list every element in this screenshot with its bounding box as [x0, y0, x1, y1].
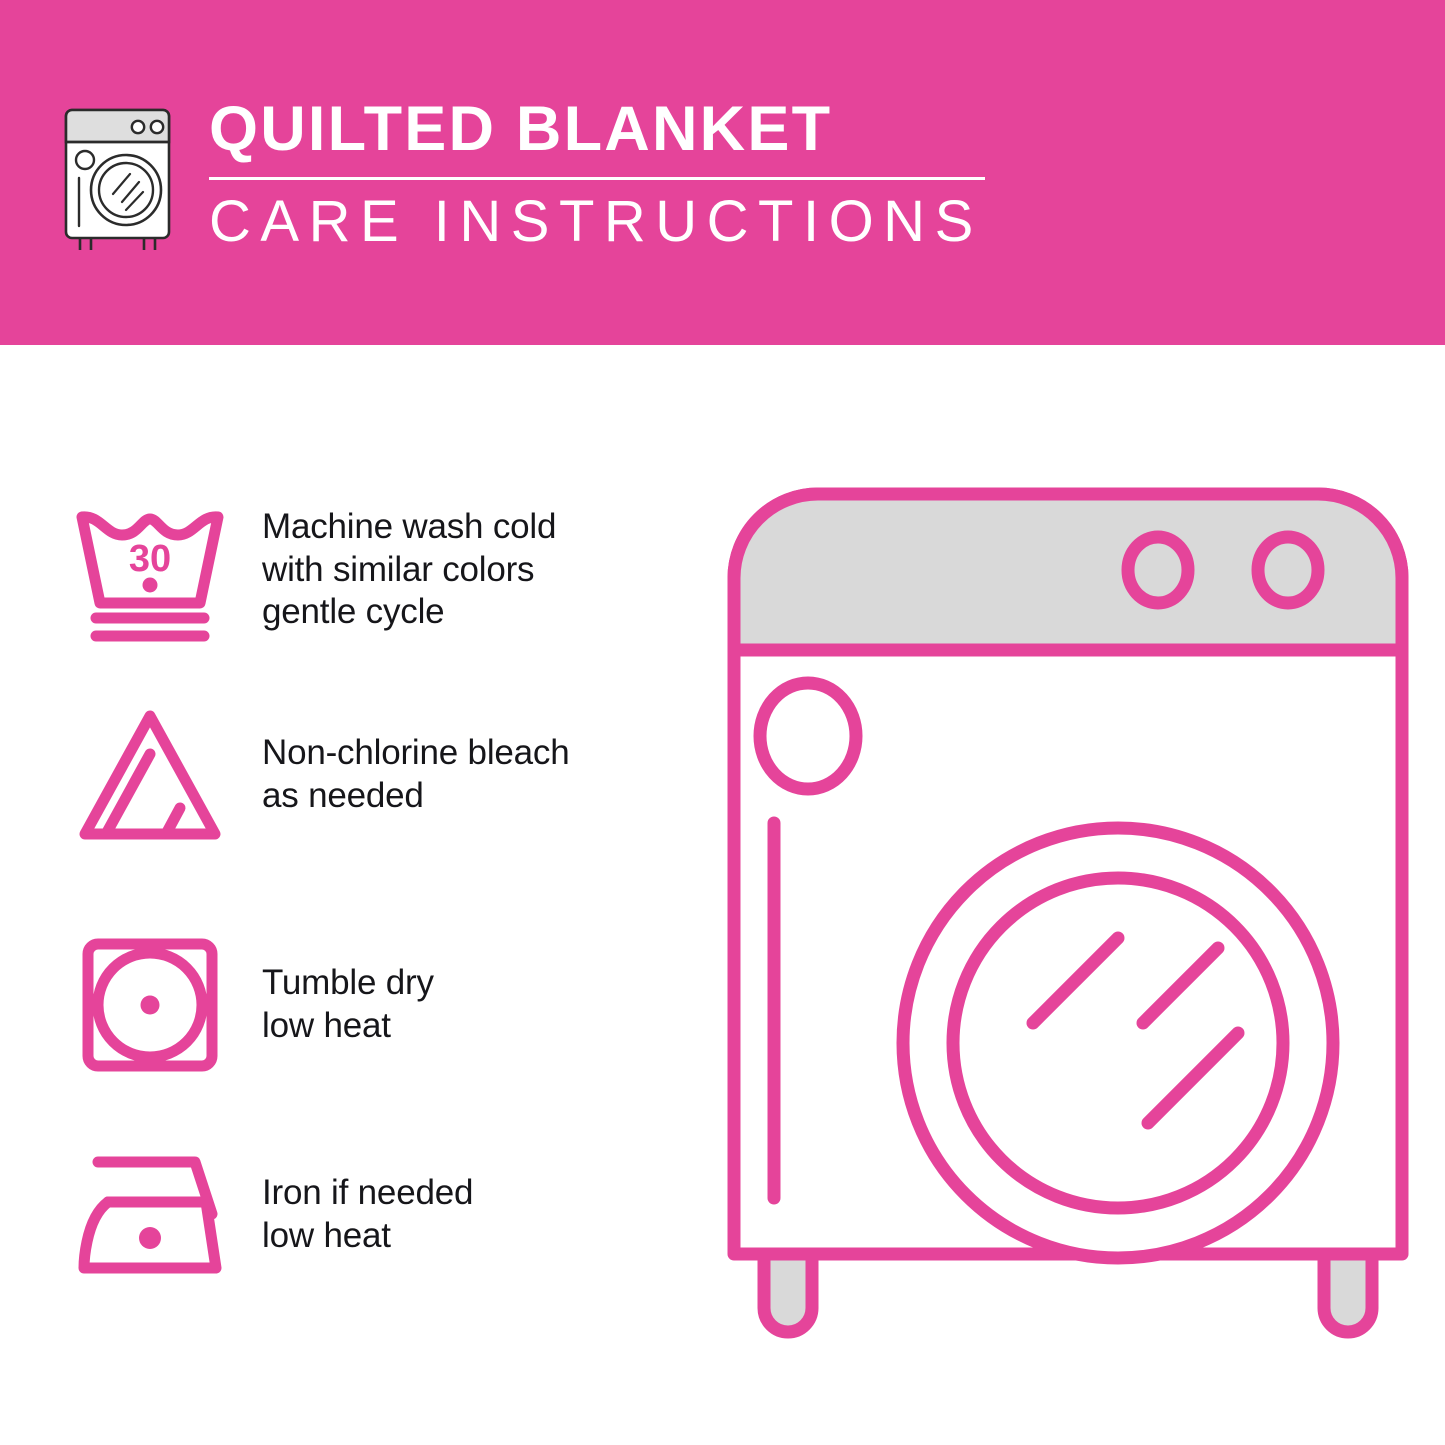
- iron-icon: [70, 1140, 230, 1290]
- care-item-label: Iron if needed low heat: [262, 1172, 473, 1257]
- care-item-bleach: Non-chlorine bleach as needed: [70, 700, 690, 850]
- care-label-line: Machine wash cold: [262, 506, 556, 549]
- care-item-tumble-dry: Tumble dry low heat: [70, 930, 690, 1080]
- care-label-line: low heat: [262, 1215, 473, 1258]
- care-label-line: as needed: [262, 775, 570, 818]
- care-label-line: Tumble dry: [262, 962, 434, 1005]
- care-label-line: gentle cycle: [262, 591, 556, 634]
- front-load-washing-machine-illustration: [718, 478, 1418, 1368]
- care-item-label: Machine wash cold with similar colors ge…: [262, 506, 556, 634]
- header-content: QUILTED BLANKET CARE INSTRUCTIONS: [60, 98, 985, 257]
- care-label-line: Non-chlorine bleach: [262, 732, 570, 775]
- care-item-iron: Iron if needed low heat: [70, 1140, 690, 1290]
- control-knob-1: [1128, 537, 1188, 603]
- washer-legs: [764, 1248, 1372, 1332]
- header-titles: QUILTED BLANKET CARE INSTRUCTIONS: [207, 98, 985, 251]
- care-label-line: with similar colors: [262, 549, 556, 592]
- page-subtitle: CARE INSTRUCTIONS: [207, 193, 985, 251]
- tumble-dry-icon: [70, 930, 230, 1080]
- care-item-label: Non-chlorine bleach as needed: [262, 732, 570, 817]
- header-banner: QUILTED BLANKET CARE INSTRUCTIONS: [0, 0, 1445, 345]
- wash-temperature-value: 30: [129, 538, 171, 580]
- bleach-triangle-icon: [70, 700, 230, 850]
- washing-machine-icon: [60, 102, 185, 257]
- title-divider: [209, 177, 985, 180]
- care-item-machine-wash: 30 Machine wash cold with similar colors…: [70, 495, 690, 645]
- care-item-label: Tumble dry low heat: [262, 962, 434, 1047]
- wash-tub-30-icon: 30: [70, 495, 230, 645]
- detergent-dispenser: [760, 683, 856, 789]
- page-title: QUILTED BLANKET: [207, 98, 985, 161]
- control-knob-2: [1258, 537, 1318, 603]
- care-label-line: Iron if needed: [262, 1172, 473, 1215]
- care-label-line: low heat: [262, 1005, 434, 1048]
